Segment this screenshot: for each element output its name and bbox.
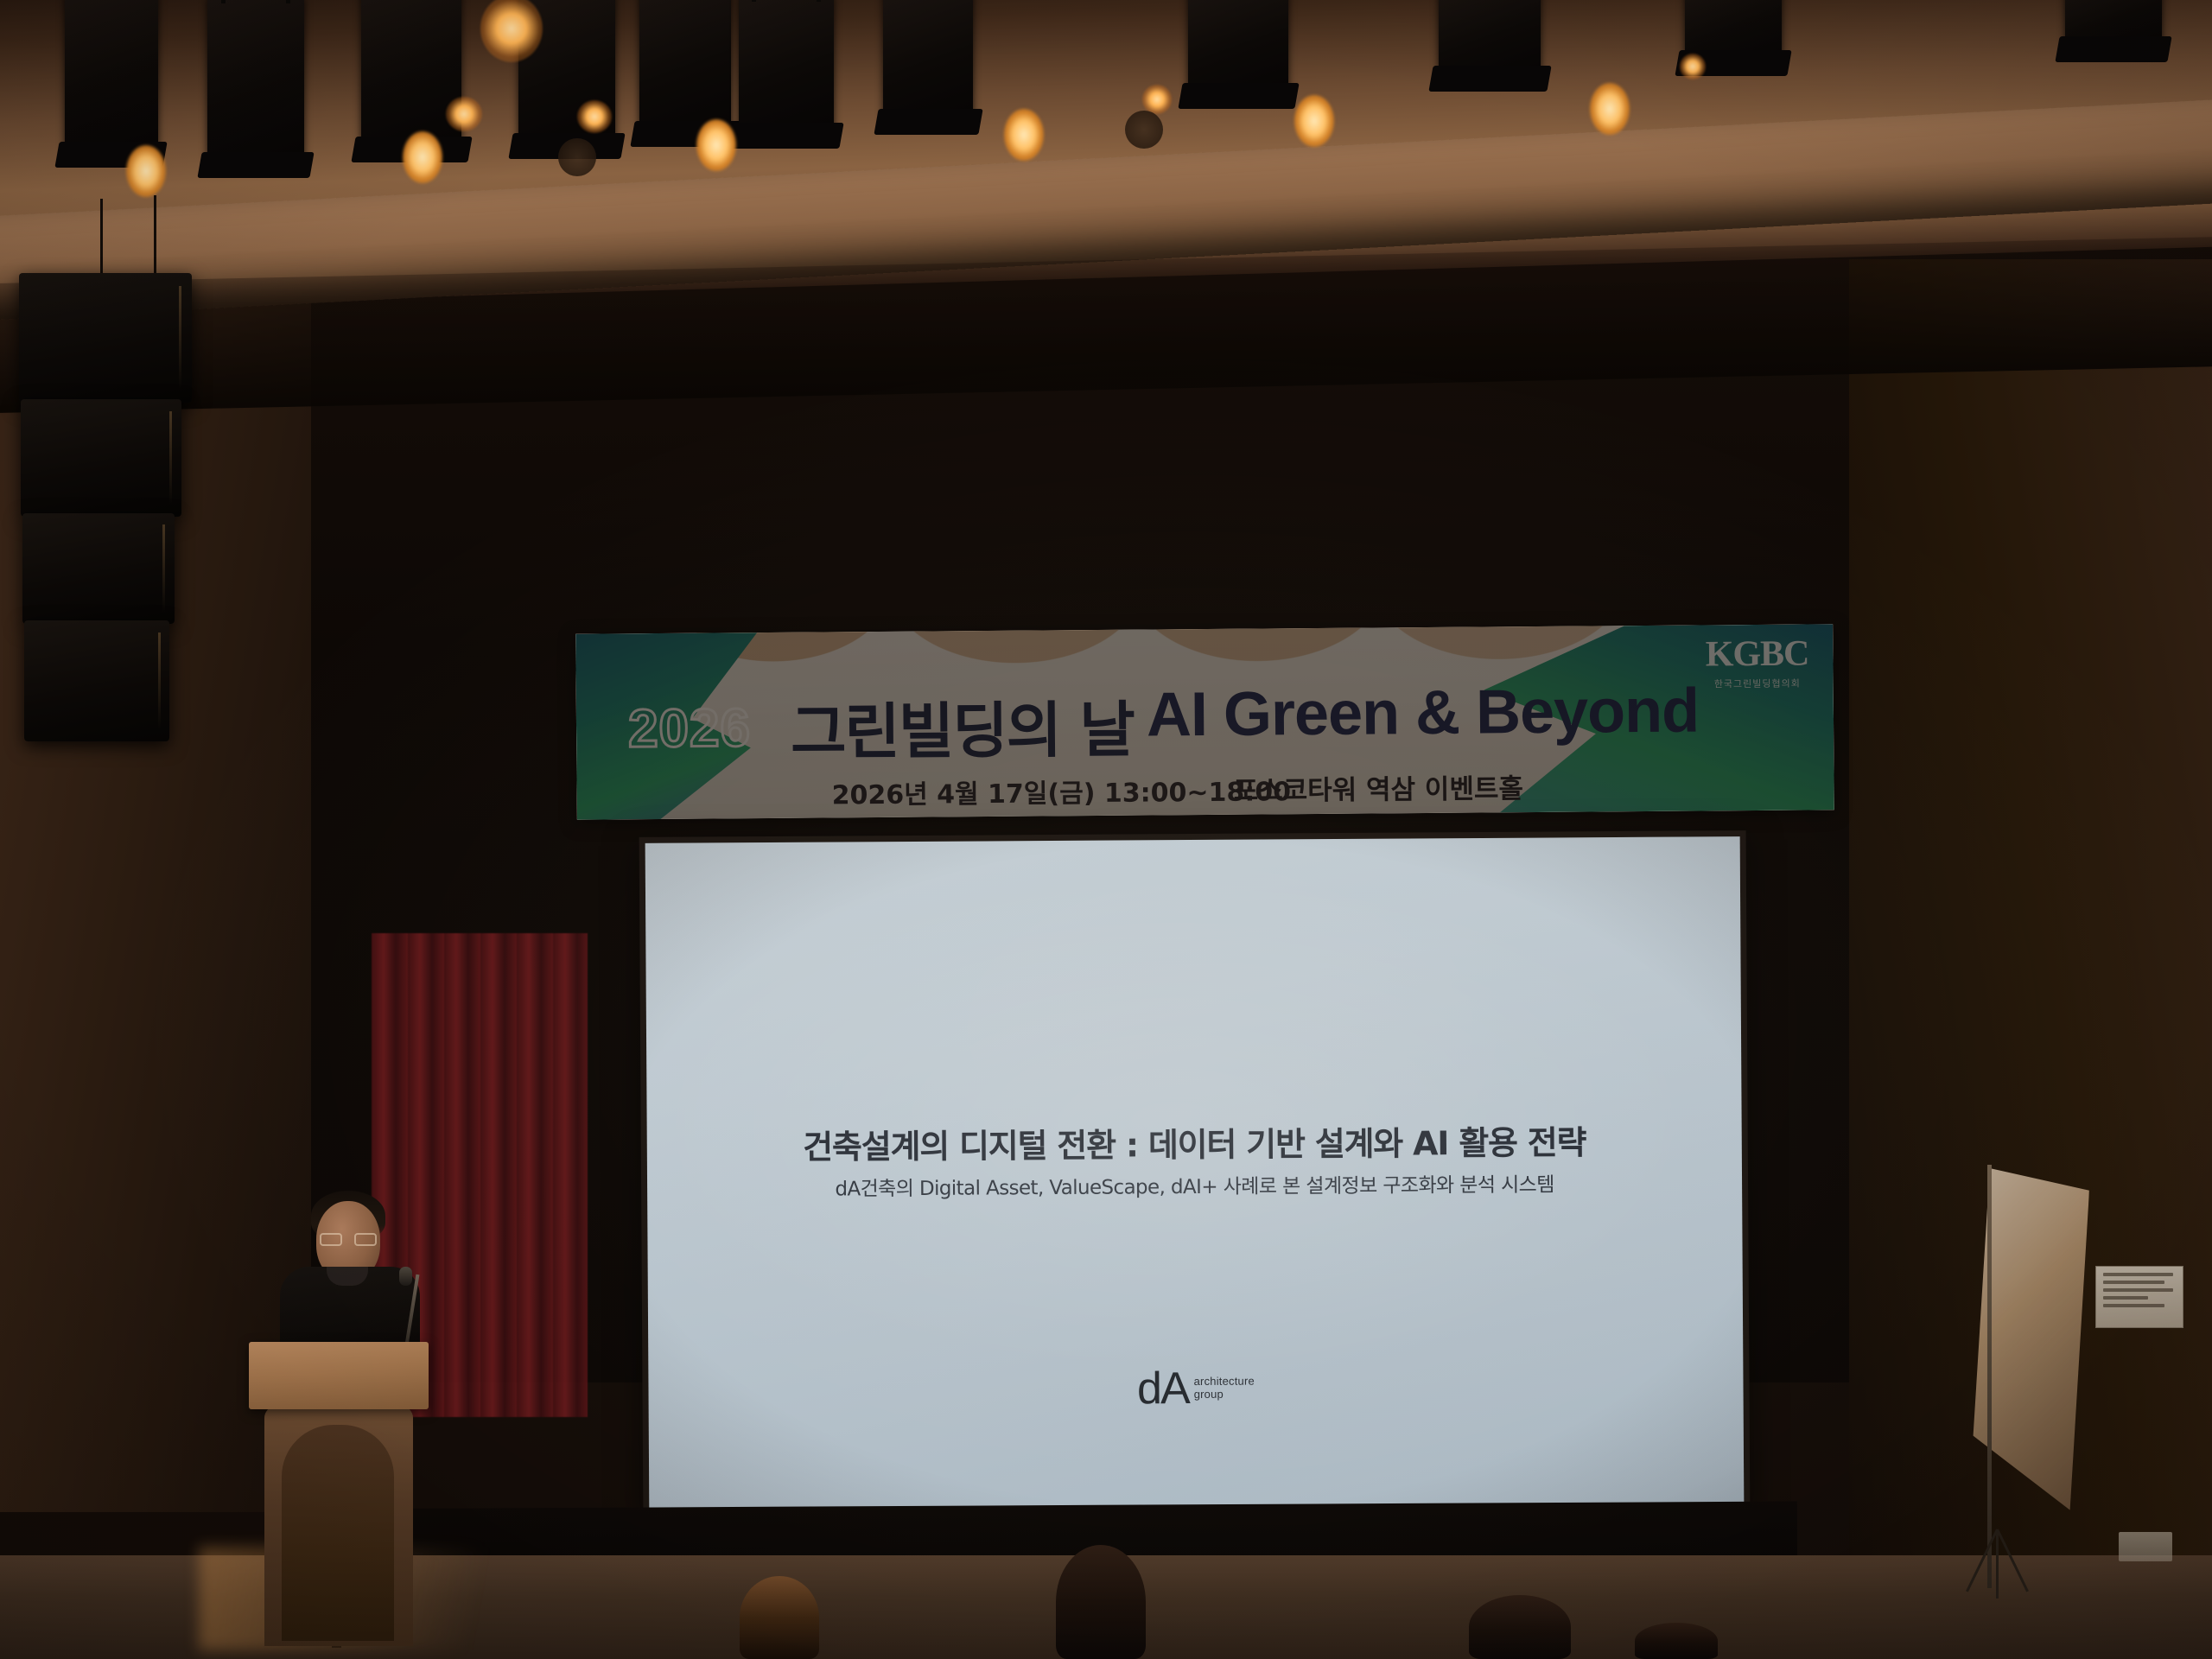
ceiling-downlight	[126, 145, 166, 197]
stage-light-fixture	[1439, 0, 1541, 78]
banner-title-english: AI Green & Beyond	[1147, 676, 1700, 751]
podium-desktop	[249, 1342, 429, 1409]
line-array-loudspeaker	[21, 399, 181, 517]
projection-screen: 건축설계의 디지털 전환 : 데이터 기반 설계와 AI 활용 전략 dA건축의…	[645, 836, 1745, 1514]
banner-year: 2026	[628, 697, 751, 760]
ceiling-downlight	[696, 119, 736, 171]
ceiling-vent	[1125, 111, 1163, 149]
stage-lamp-glow	[577, 100, 612, 133]
kgbc-logo-subtitle: 한국그린빌딩협의회	[1706, 677, 1809, 691]
stage-light-fixture	[361, 0, 461, 149]
da-logo-mark: dA	[1137, 1369, 1189, 1409]
wall-notice-sign	[2095, 1266, 2183, 1328]
stage-light-fixture	[1685, 0, 1782, 62]
ceiling-downlight	[1004, 109, 1044, 161]
auditorium-scene: 2026 그린빌딩의 날 AI Green & Beyond 2026년 4월 …	[0, 0, 2212, 1659]
kgbc-logo-mark: KGBC	[1706, 633, 1809, 676]
da-architecture-group-logo: dA architecture group	[648, 1365, 1743, 1413]
line-array-loudspeaker	[24, 620, 169, 741]
audience-head	[1469, 1595, 1571, 1659]
stage-light-fixture	[883, 0, 973, 121]
stage-light-fixture	[65, 0, 158, 154]
banner-title-korean: 그린빌딩의 날	[791, 682, 1135, 772]
banner-venue: 포스코타워 역삼 이벤트홀	[1233, 766, 1523, 808]
da-logo-line1: architecture	[1194, 1375, 1255, 1388]
audience-head	[1056, 1545, 1146, 1659]
stage-lamp-glow	[1680, 54, 1706, 79]
event-banner: 2026 그린빌딩의 날 AI Green & Beyond 2026년 4월 …	[575, 624, 1834, 819]
ceiling-downlight	[1294, 95, 1334, 147]
da-logo-words: architecture group	[1194, 1369, 1255, 1402]
line-array-loudspeaker	[19, 273, 192, 403]
banner-date: 2026년 4월 17일(금) 13:00~18:00	[831, 770, 1291, 811]
microphone-icon	[399, 1267, 412, 1286]
slide-subtitle: dA건축의 Digital Asset, ValueScape, dAI+ 사례…	[647, 1166, 1742, 1203]
stage-lamp-glow	[1142, 85, 1172, 114]
stage-light-fixture	[639, 0, 731, 133]
stage-light-fixture	[739, 0, 834, 135]
ceiling-vent	[558, 138, 596, 176]
flag-stand	[1946, 1529, 2050, 1599]
ceiling-downlight	[1590, 83, 1630, 135]
presenter	[275, 1184, 422, 1357]
glasses-icon	[320, 1233, 377, 1246]
ceiling-downlight	[403, 131, 442, 183]
speaker-suspension-wire	[100, 199, 103, 276]
stage-light-fixture	[207, 0, 304, 164]
audience-head	[1635, 1623, 1718, 1659]
stage-light-fixture	[2065, 0, 2162, 48]
da-logo-line2: group	[1194, 1388, 1224, 1401]
speaker-suspension-wire	[154, 195, 156, 278]
wooden-podium	[249, 1342, 429, 1644]
audience-head	[740, 1576, 819, 1659]
kgbc-logo: KGBC 한국그린빌딩협의회	[1706, 633, 1809, 691]
stage-light-fixture	[1188, 0, 1288, 95]
slide-title: 건축설계의 디지털 전환 : 데이터 기반 설계와 AI 활용 전략	[647, 1115, 1742, 1169]
projection-screen-frame: 건축설계의 디지털 전환 : 데이터 기반 설계와 AI 활용 전략 dA건축의…	[639, 830, 1751, 1520]
line-array-loudspeaker	[22, 513, 175, 624]
podium-front-panel	[282, 1425, 394, 1641]
stage-lamp-glow	[446, 97, 482, 131]
wall-outlet-panel	[2119, 1532, 2172, 1561]
flag-pole	[1987, 1165, 1992, 1588]
